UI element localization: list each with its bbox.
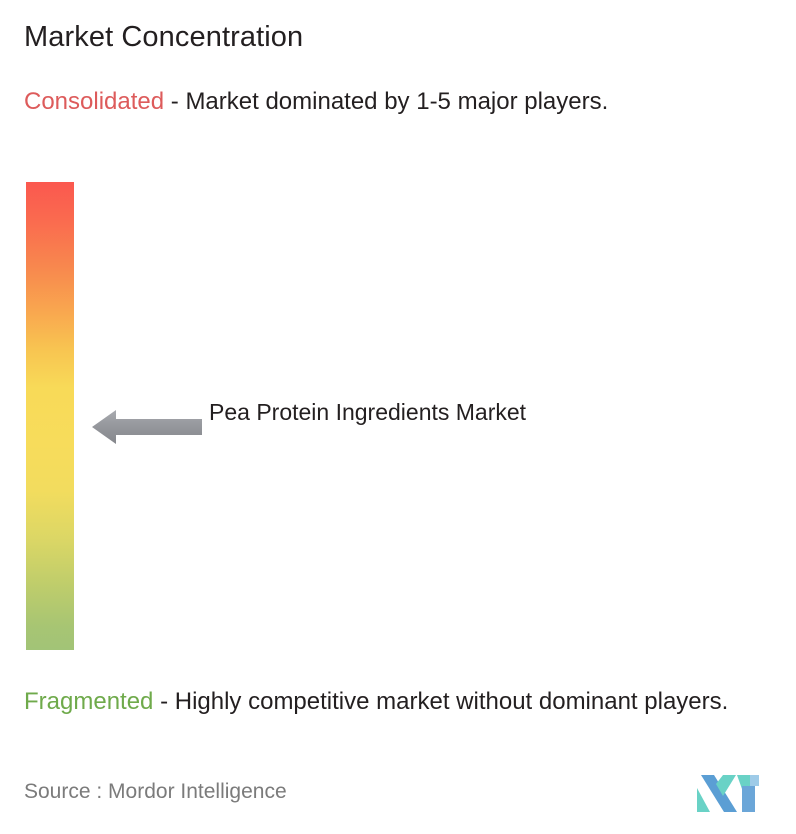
market-pointer-label: Pea Protein Ingredients Market — [209, 395, 609, 430]
concentration-scale-bar — [26, 182, 74, 650]
legend-consolidated: Consolidated - Market dominated by 1-5 m… — [24, 86, 764, 118]
legend-fragmented: Fragmented - Highly competitive market w… — [24, 686, 796, 718]
page-title: Market Concentration — [24, 20, 303, 54]
arrow-left-icon — [92, 408, 202, 446]
legend-fragmented-keyword: Fragmented — [24, 688, 153, 715]
legend-fragmented-description: - Highly competitive market without domi… — [153, 688, 728, 715]
legend-consolidated-description: - Market dominated by 1-5 major players. — [164, 88, 608, 115]
source-attribution: Source : Mordor Intelligence — [24, 779, 287, 805]
mordor-intelligence-logo — [697, 772, 763, 812]
legend-consolidated-keyword: Consolidated — [24, 88, 164, 115]
